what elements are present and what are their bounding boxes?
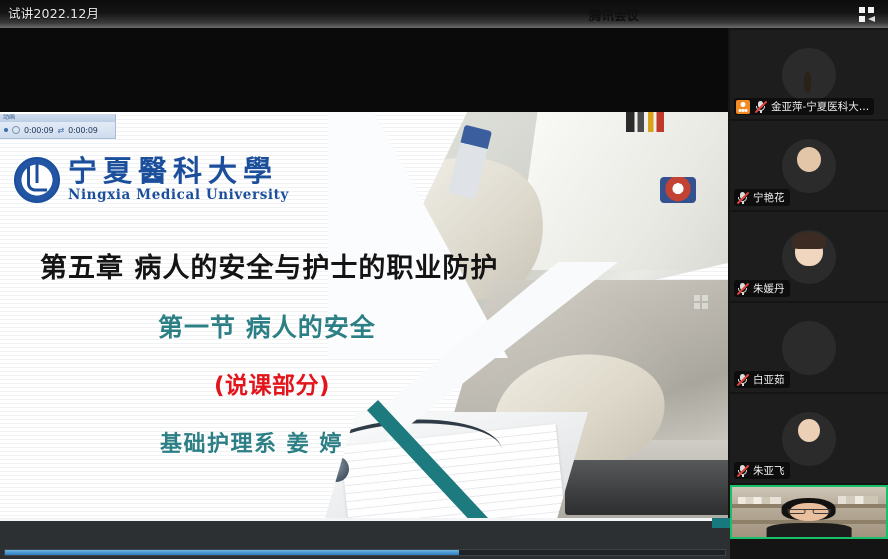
grid-layout-icon[interactable] [859, 7, 881, 22]
slide-bottom-edge [0, 518, 730, 521]
slide-chapter-title: 第五章 病人的安全与护士的职业防护 [40, 246, 498, 285]
participant-namebar: 金亚萍-宁夏医科大… [734, 98, 874, 115]
mic-muted-icon[interactable] [736, 282, 749, 295]
participant-namebar: 宁艳花 [734, 189, 790, 206]
participant-namebar: 白亚茹 [734, 371, 790, 388]
avatar [782, 48, 836, 102]
mic-muted-icon[interactable] [736, 191, 749, 204]
participant-name: 金亚萍-宁夏医科大… [771, 99, 869, 114]
watermark-dots-icon [694, 295, 710, 311]
progress-bar-fill [5, 550, 459, 555]
app-title: 腾讯会议 [0, 5, 888, 24]
swap-icon[interactable]: ⇄ [57, 126, 64, 135]
mic-muted-icon[interactable] [736, 373, 749, 386]
video-feed [732, 487, 886, 537]
mic-muted-icon[interactable] [736, 464, 749, 477]
slide-author-text: 基础护理系 姜 婷 [160, 426, 343, 458]
teal-corner-accent [712, 518, 730, 528]
avatar [782, 412, 836, 466]
meeting-window: 试讲2022.12月 腾讯会议 [0, 0, 888, 559]
university-name-cn: 宁夏醫科大學 [68, 156, 289, 186]
participant-tile-4[interactable]: 白亚茹 [730, 303, 888, 392]
university-logo: 宁夏醫科大學 Ningxia Medical University [14, 156, 289, 203]
participant-name: 朱亚飞 [753, 463, 785, 478]
university-name-en: Ningxia Medical University [68, 187, 289, 203]
participant-tile-1[interactable]: 金亚萍-宁夏医科大… [730, 30, 888, 119]
ppt-time-end: 0:00:09 [68, 126, 97, 135]
slide-note-text: (说课部分) [214, 366, 330, 400]
screen-letterbox-top [0, 28, 728, 112]
avatar [782, 139, 836, 193]
mic-muted-icon[interactable] [754, 100, 767, 113]
participant-rail[interactable]: 金亚萍-宁夏医科大… 宁艳花 朱媛丹 [730, 30, 888, 559]
avatar [782, 230, 836, 284]
avatar [782, 321, 836, 375]
loop-icon[interactable] [12, 126, 20, 134]
play-dot-icon[interactable] [4, 128, 8, 132]
shared-screen-stage[interactable]: 宁夏醫科大學 Ningxia Medical University 第五章 病人… [0, 28, 728, 518]
participant-namebar: 朱亚飞 [734, 462, 790, 479]
title-bar: 试讲2022.12月 腾讯会议 [0, 0, 888, 28]
university-emblem-icon [14, 157, 60, 203]
presentation-slide: 宁夏醫科大學 Ningxia Medical University 第五章 病人… [0, 112, 728, 518]
layout-switch-button[interactable] [859, 7, 881, 23]
playback-bar [0, 518, 730, 559]
participant-name: 白亚茹 [753, 372, 785, 387]
participant-tile-2[interactable]: 宁艳花 [730, 121, 888, 210]
ppt-animation-toolbar[interactable]: 动画 0:00:09 ⇄ 0:00:09 [0, 114, 116, 139]
ppt-time-start: 0:00:09 [24, 126, 53, 135]
participant-tile-6-active-speaker[interactable] [730, 485, 888, 539]
participant-name: 朱媛丹 [753, 281, 785, 296]
participant-namebar: 朱媛丹 [734, 280, 790, 297]
progress-bar-track[interactable] [4, 549, 726, 556]
host-badge-icon [736, 100, 750, 114]
participant-tile-3[interactable]: 朱媛丹 [730, 212, 888, 301]
participant-tile-5[interactable]: 朱亚飞 [730, 394, 888, 483]
ppt-toolbar-title: 动画 [0, 114, 115, 122]
slide-section-title: 第一节 病人的安全 [158, 308, 376, 344]
participant-name: 宁艳花 [753, 190, 785, 205]
